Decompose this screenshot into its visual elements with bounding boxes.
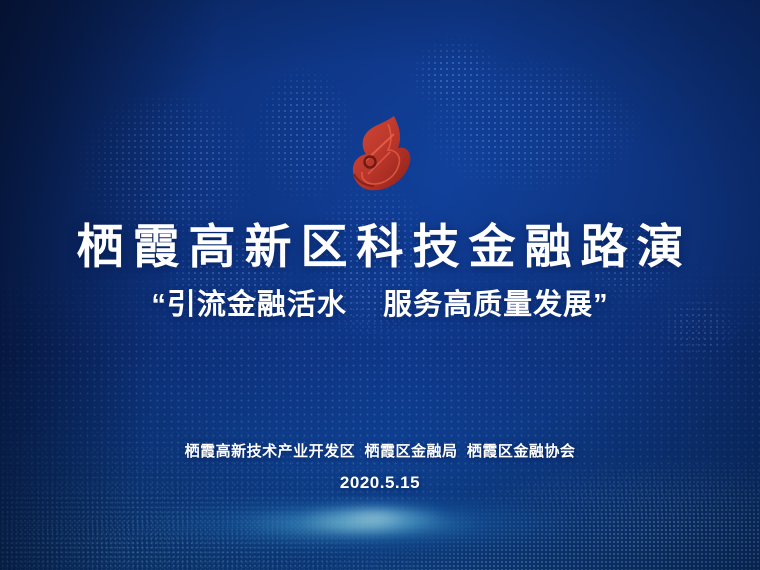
red-flame-emblem-icon xyxy=(344,112,416,194)
organizers-line: 栖霞高新技术产业开发区 栖霞区金融局 栖霞区金融协会 xyxy=(0,440,760,461)
page-title: 栖霞高新区科技金融路演 xyxy=(0,222,760,271)
poster-subtitle: “引流金融活水 服务高质量发展” xyxy=(0,288,760,323)
event-poster: 栖霞高新区科技金融路演 “引流金融活水 服务高质量发展” 栖霞高新技术产业开发区… xyxy=(0,0,760,570)
poster-content: 栖霞高新区科技金融路演 “引流金融活水 服务高质量发展” 栖霞高新技术产业开发区… xyxy=(0,0,760,570)
event-date: 2020.5.15 xyxy=(0,473,760,493)
